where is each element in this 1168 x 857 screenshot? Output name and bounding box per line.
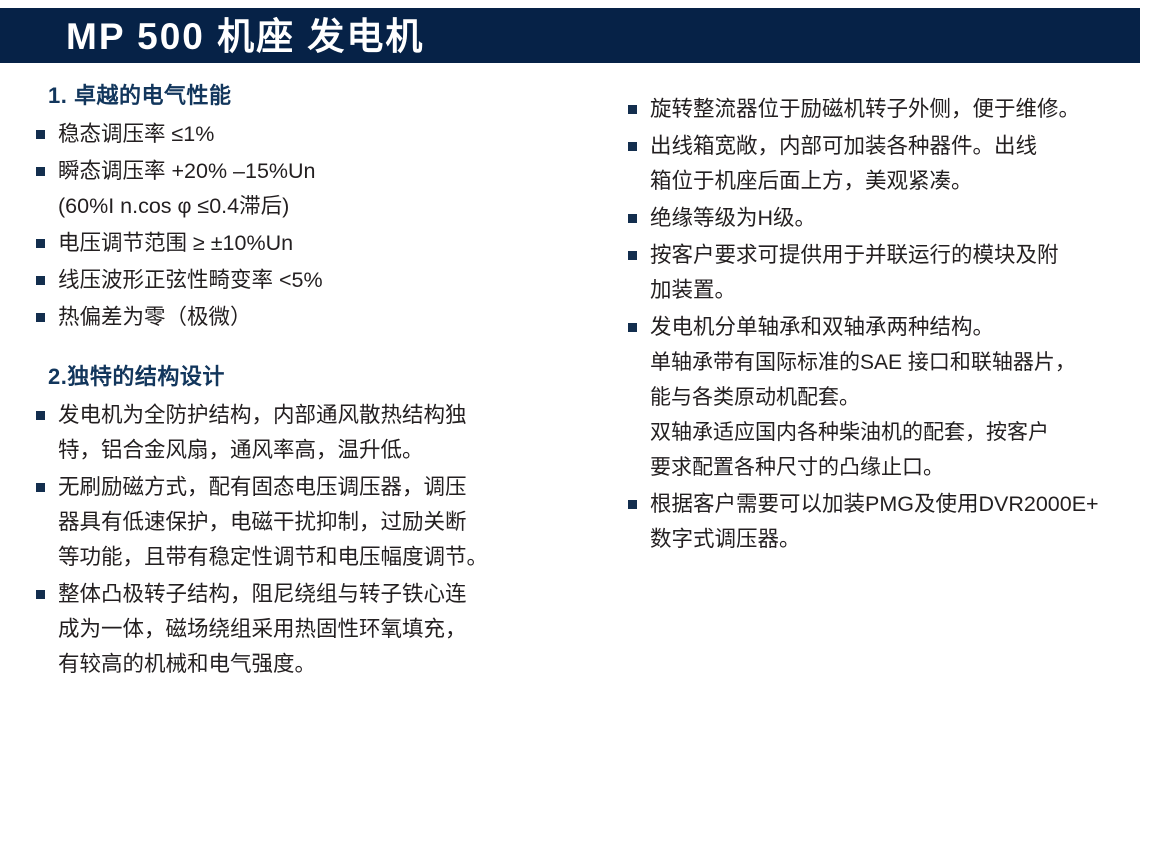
bullet-line: 按客户要求可提供用于并联运行的模块及附 xyxy=(650,238,1160,273)
bullet-line: 电压调节范围 ≥ ±10%Un xyxy=(58,226,596,261)
square-bullet-icon xyxy=(628,251,637,260)
bullet-item: 旋转整流器位于励磁机转子外侧，便于维修。 xyxy=(628,92,1160,127)
bullet-line: 瞬态调压率 +20% –15%Un xyxy=(58,154,596,189)
bullet-line: 等功能，且带有稳定性调节和电压幅度调节。 xyxy=(58,540,596,575)
bullet-line: 绝缘等级为H级。 xyxy=(650,201,1160,236)
bullet-line: 热偏差为零（极微） xyxy=(58,300,596,335)
section-heading: 1. 卓越的电气性能 xyxy=(48,78,596,110)
bullet-item: 无刷励磁方式，配有固态电压调压器，调压器具有低速保护，电磁干扰抑制，过励关断等功… xyxy=(36,470,596,575)
bullet-item: 发电机分单轴承和双轴承两种结构。单轴承带有国际标准的SAE 接口和联轴器片，能与… xyxy=(628,310,1160,485)
bullet-list: 稳态调压率 ≤1%瞬态调压率 +20% –15%Un(60%I n.cos φ … xyxy=(36,117,596,335)
square-bullet-icon xyxy=(36,313,45,322)
bullet-item: 稳态调压率 ≤1% xyxy=(36,117,596,152)
bullet-line: 出线箱宽敞，内部可加装各种器件。出线 xyxy=(650,129,1160,164)
square-bullet-icon xyxy=(36,167,45,176)
square-bullet-icon xyxy=(628,323,637,332)
bullet-item: 瞬态调压率 +20% –15%Un(60%I n.cos φ ≤0.4滞后) xyxy=(36,154,596,224)
bullet-sub-line: 双轴承适应国内各种柴油机的配套，按客户 xyxy=(650,415,1160,450)
bullet-line: 整体凸极转子结构，阻尼绕组与转子铁心连 xyxy=(58,577,596,612)
bullet-line: 稳态调压率 ≤1% xyxy=(58,117,596,152)
square-bullet-icon xyxy=(36,276,45,285)
bullet-line: 旋转整流器位于励磁机转子外侧，便于维修。 xyxy=(650,92,1160,127)
bullet-item: 热偏差为零（极微） xyxy=(36,300,596,335)
bullet-line: 箱位于机座后面上方，美观紧凑。 xyxy=(650,164,1160,199)
bullet-item: 根据客户需要可以加装PMG及使用DVR2000E+数字式调压器。 xyxy=(628,487,1160,557)
bullet-item: 线压波形正弦性畸变率 <5% xyxy=(36,263,596,298)
right-column: 旋转整流器位于励磁机转子外侧，便于维修。出线箱宽敞，内部可加装各种器件。出线箱位… xyxy=(628,78,1160,559)
bullet-line: 数字式调压器。 xyxy=(650,522,1160,557)
bullet-line: 根据客户需要可以加装PMG及使用DVR2000E+ xyxy=(650,487,1160,522)
bullet-sub-line: 单轴承带有国际标准的SAE 接口和联轴器片， xyxy=(650,345,1160,380)
bullet-item: 整体凸极转子结构，阻尼绕组与转子铁心连成为一体，磁场绕组采用热固性环氧填充，有较… xyxy=(36,577,596,682)
square-bullet-icon xyxy=(36,411,45,420)
square-bullet-icon xyxy=(628,214,637,223)
datasheet-page: MP 500 机座 发电机 1. 卓越的电气性能稳态调压率 ≤1%瞬态调压率 +… xyxy=(0,0,1168,857)
bullet-line: 特，铝合金风扇，通风率高，温升低。 xyxy=(58,433,596,468)
square-bullet-icon xyxy=(36,239,45,248)
section-heading: 2.独特的结构设计 xyxy=(48,359,596,391)
content-columns: 1. 卓越的电气性能稳态调压率 ≤1%瞬态调压率 +20% –15%Un(60%… xyxy=(0,78,1168,857)
bullet-item: 出线箱宽敞，内部可加装各种器件。出线箱位于机座后面上方，美观紧凑。 xyxy=(628,129,1160,199)
bullet-line: 线压波形正弦性畸变率 <5% xyxy=(58,263,596,298)
bullet-item: 发电机为全防护结构，内部通风散热结构独特，铝合金风扇，通风率高，温升低。 xyxy=(36,398,596,468)
square-bullet-icon xyxy=(36,590,45,599)
bullet-sub-line: 要求配置各种尺寸的凸缘止口。 xyxy=(650,450,1160,485)
square-bullet-icon xyxy=(628,500,637,509)
bullet-item: 绝缘等级为H级。 xyxy=(628,201,1160,236)
bullet-item: 电压调节范围 ≥ ±10%Un xyxy=(36,226,596,261)
bullet-line: 器具有低速保护，电磁干扰抑制，过励关断 xyxy=(58,505,596,540)
bullet-line: 无刷励磁方式，配有固态电压调压器，调压 xyxy=(58,470,596,505)
bullet-list: 旋转整流器位于励磁机转子外侧，便于维修。出线箱宽敞，内部可加装各种器件。出线箱位… xyxy=(628,92,1160,557)
bullet-line: 成为一体，磁场绕组采用热固性环氧填充， xyxy=(58,612,596,647)
right-column-spacer xyxy=(628,78,1160,92)
square-bullet-icon xyxy=(628,142,637,151)
bullet-item: 按客户要求可提供用于并联运行的模块及附加装置。 xyxy=(628,238,1160,308)
square-bullet-icon xyxy=(36,483,45,492)
bullet-sub-line: 能与各类原动机配套。 xyxy=(650,380,1160,415)
square-bullet-icon xyxy=(36,130,45,139)
square-bullet-icon xyxy=(628,105,637,114)
bullet-line: 加装置。 xyxy=(650,273,1160,308)
bullet-line: 发电机为全防护结构，内部通风散热结构独 xyxy=(58,398,596,433)
bullet-line: 发电机分单轴承和双轴承两种结构。 xyxy=(650,310,1160,345)
bullet-line: 有较高的机械和电气强度。 xyxy=(58,647,596,682)
page-title: MP 500 机座 发电机 xyxy=(66,10,424,65)
bullet-list: 发电机为全防护结构，内部通风散热结构独特，铝合金风扇，通风率高，温升低。无刷励磁… xyxy=(36,398,596,682)
left-column: 1. 卓越的电气性能稳态调压率 ≤1%瞬态调压率 +20% –15%Un(60%… xyxy=(36,78,596,684)
bullet-line: (60%I n.cos φ ≤0.4滞后) xyxy=(58,189,596,224)
